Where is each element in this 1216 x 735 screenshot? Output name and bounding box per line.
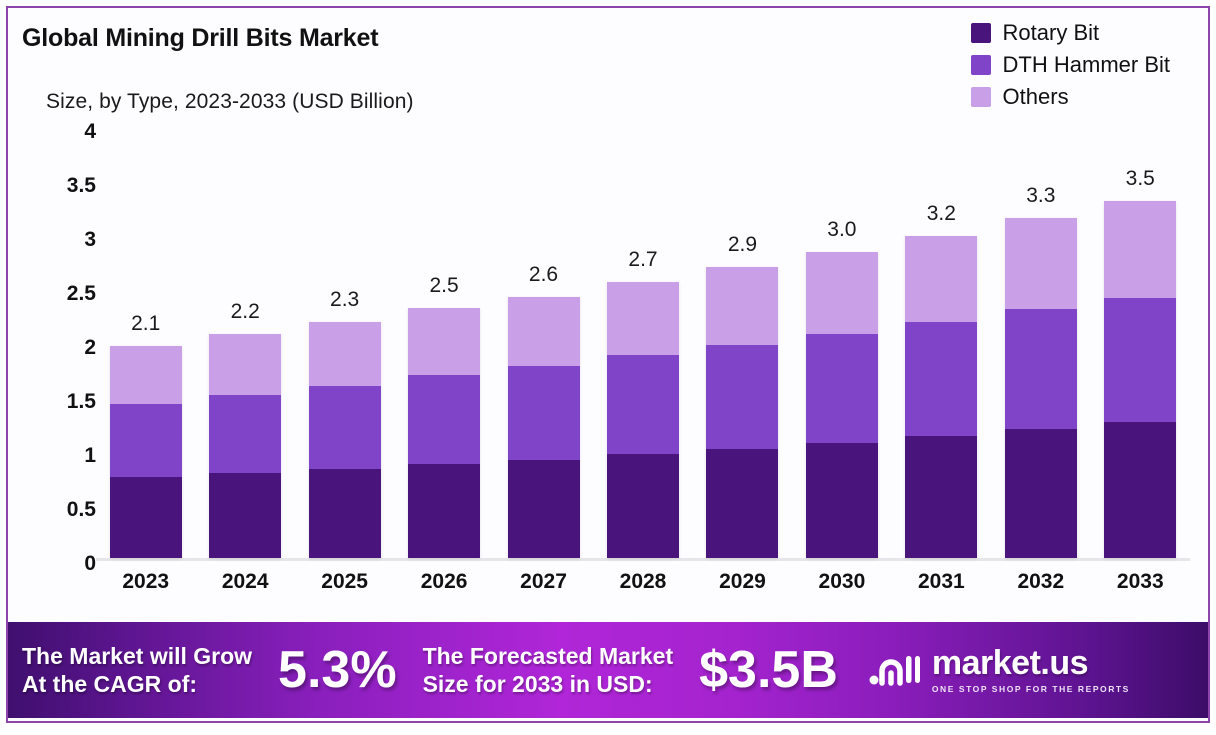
forecast-size-label: The Forecasted Market Size for 2033 in U… [423, 642, 674, 698]
y-axis-tick: 3.5 [67, 174, 96, 198]
stacked-bar[interactable] [209, 334, 281, 558]
bar-segment[interactable] [508, 460, 580, 558]
bar-group[interactable]: 2.12023 [110, 140, 182, 558]
bar-segment[interactable] [905, 436, 977, 558]
market-us-logo-icon [868, 648, 920, 693]
bar-segment[interactable] [110, 346, 182, 404]
stacked-bar[interactable] [706, 267, 778, 558]
bar-segment[interactable] [209, 395, 281, 474]
stacked-bar[interactable] [110, 346, 182, 558]
y-axis-tick: 2.5 [67, 282, 96, 306]
x-axis-tick: 2024 [209, 570, 281, 594]
stacked-bar[interactable] [1104, 201, 1176, 558]
logo-wordmark: market.us [932, 646, 1130, 680]
stacked-bar[interactable] [508, 297, 580, 558]
bar-total-label: 2.9 [706, 233, 778, 257]
bar-segment[interactable] [309, 322, 381, 385]
y-axis-tick: 2 [84, 336, 96, 360]
bar-segment[interactable] [706, 345, 778, 449]
bar-series-container: 2.120232.220242.320252.520262.620272.720… [96, 140, 1190, 558]
bar-total-label: 3.5 [1104, 167, 1176, 191]
y-axis-tick: 0.5 [67, 498, 96, 522]
stacked-bar[interactable] [607, 282, 679, 558]
bar-segment[interactable] [905, 236, 977, 323]
bar-segment[interactable] [1104, 422, 1176, 558]
bar-group[interactable]: 2.52026 [408, 140, 480, 558]
bar-segment[interactable] [806, 334, 878, 443]
bottom-banner: The Market will Grow At the CAGR of: 5.3… [8, 622, 1208, 718]
x-axis-tick: 2032 [1005, 570, 1077, 594]
bar-group[interactable]: 2.32025 [309, 140, 381, 558]
bar-segment[interactable] [110, 404, 182, 477]
x-axis-tick: 2026 [408, 570, 480, 594]
bar-total-label: 2.1 [110, 312, 182, 336]
stacked-bar[interactable] [309, 322, 381, 558]
y-axis-tick: 1.5 [67, 390, 96, 414]
y-axis-tick: 4 [84, 120, 96, 144]
bar-segment[interactable] [209, 473, 281, 558]
bar-group[interactable]: 3.02030 [806, 140, 878, 558]
bar-group[interactable]: 3.22031 [905, 140, 977, 558]
bar-segment[interactable] [607, 355, 679, 454]
stacked-bar[interactable] [1005, 218, 1077, 558]
bar-total-label: 2.6 [508, 263, 580, 287]
forecast-size-value: $3.5B [699, 640, 838, 700]
cagr-label: The Market will Grow At the CAGR of: [22, 642, 252, 698]
cagr-value: 5.3% [278, 640, 397, 700]
chart-plot-area: 00.511.522.533.54 2.120232.220242.320252… [0, 0, 1204, 612]
bar-segment[interactable] [806, 443, 878, 558]
bar-total-label: 3.3 [1005, 184, 1077, 208]
bar-segment[interactable] [309, 386, 381, 470]
x-axis-line [96, 558, 1190, 561]
stacked-bar[interactable] [806, 252, 878, 558]
market-us-logo-text: market.us ONE STOP SHOP FOR THE REPORTS [932, 646, 1130, 694]
x-axis-tick: 2027 [508, 570, 580, 594]
bar-total-label: 2.2 [209, 300, 281, 324]
market-us-logo[interactable]: market.us ONE STOP SHOP FOR THE REPORTS [868, 646, 1130, 694]
bar-total-label: 3.0 [806, 218, 878, 242]
bar-segment[interactable] [508, 366, 580, 460]
x-axis-tick: 2029 [706, 570, 778, 594]
bar-segment[interactable] [408, 464, 480, 558]
bar-group[interactable]: 2.22024 [209, 140, 281, 558]
bar-segment[interactable] [1005, 429, 1077, 558]
bar-segment[interactable] [607, 454, 679, 558]
bar-segment[interactable] [408, 375, 480, 464]
x-axis-tick: 2030 [806, 570, 878, 594]
bar-segment[interactable] [209, 334, 281, 395]
y-axis-tick: 0 [84, 552, 96, 576]
bar-segment[interactable] [408, 308, 480, 375]
bar-group[interactable]: 3.32032 [1005, 140, 1077, 558]
bar-segment[interactable] [706, 267, 778, 345]
stacked-bar[interactable] [905, 236, 977, 558]
bar-group[interactable]: 2.72028 [607, 140, 679, 558]
bar-group[interactable]: 3.52033 [1104, 140, 1176, 558]
x-axis-tick: 2031 [905, 570, 977, 594]
bar-segment[interactable] [1104, 201, 1176, 298]
bar-group[interactable]: 2.92029 [706, 140, 778, 558]
logo-tagline: ONE STOP SHOP FOR THE REPORTS [932, 684, 1130, 694]
bar-segment[interactable] [905, 322, 977, 435]
bar-segment[interactable] [806, 252, 878, 334]
bar-segment[interactable] [1005, 309, 1077, 429]
bar-total-label: 2.5 [408, 274, 480, 298]
bar-segment[interactable] [110, 477, 182, 558]
stacked-bar[interactable] [408, 308, 480, 558]
bar-group[interactable]: 2.62027 [508, 140, 580, 558]
x-axis-tick: 2028 [607, 570, 679, 594]
x-axis-tick: 2025 [309, 570, 381, 594]
bar-segment[interactable] [1005, 218, 1077, 309]
bar-segment[interactable] [607, 282, 679, 355]
bar-segment[interactable] [1104, 298, 1176, 422]
bar-segment[interactable] [706, 449, 778, 558]
bar-total-label: 3.2 [905, 202, 977, 226]
bar-total-label: 2.3 [309, 288, 381, 312]
chart-page: Global Mining Drill Bits Market Size, by… [0, 0, 1216, 735]
bar-total-label: 2.7 [607, 248, 679, 272]
y-axis: 00.511.522.533.54 [34, 132, 96, 564]
bar-segment[interactable] [309, 469, 381, 558]
x-axis-tick: 2023 [110, 570, 182, 594]
x-axis-tick: 2033 [1104, 570, 1176, 594]
bar-segment[interactable] [508, 297, 580, 366]
y-axis-tick: 3 [84, 228, 96, 252]
y-axis-tick: 1 [84, 444, 96, 468]
